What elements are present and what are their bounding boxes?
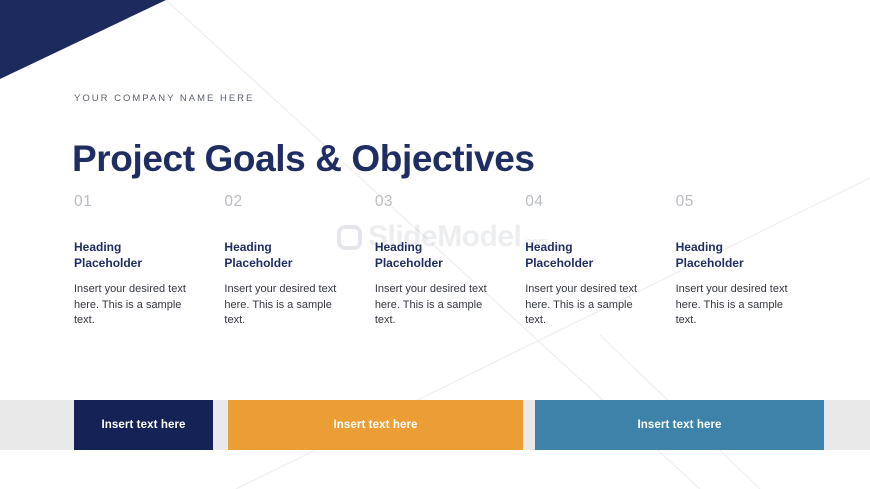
column-02: 02 Heading Placeholder Insert your desir… [224, 194, 362, 329]
column-body-text[interactable]: Insert your desired text here. This is a… [224, 282, 342, 330]
column-number: 03 [375, 194, 513, 210]
company-name-eyebrow: YOUR COMPANY NAME HERE [74, 93, 254, 104]
footer-box-steel-blue[interactable]: Insert text here [535, 400, 824, 450]
slide-canvas: SlideModel .com YOUR COMPANY NAME HERE P… [0, 0, 870, 489]
column-number: 02 [224, 194, 362, 210]
column-03: 03 Heading Placeholder Insert your desir… [375, 194, 513, 329]
footer-box-navy[interactable]: Insert text here [74, 400, 213, 450]
column-01: 01 Heading Placeholder Insert your desir… [74, 194, 212, 329]
corner-triangle-decoration [0, 0, 166, 79]
column-heading[interactable]: Heading Placeholder [676, 239, 786, 272]
column-body-text[interactable]: Insert your desired text here. This is a… [375, 282, 493, 330]
column-body-text[interactable]: Insert your desired text here. This is a… [676, 282, 794, 330]
column-heading[interactable]: Heading Placeholder [375, 239, 485, 272]
column-heading[interactable]: Heading Placeholder [525, 239, 635, 272]
footer-box-orange[interactable]: Insert text here [228, 400, 523, 450]
column-05: 05 Heading Placeholder Insert your desir… [676, 194, 814, 329]
column-number: 01 [74, 194, 212, 210]
column-body-text[interactable]: Insert your desired text here. This is a… [525, 282, 643, 330]
page-title: Project Goals & Objectives [72, 138, 535, 181]
column-number: 04 [525, 194, 663, 210]
column-heading[interactable]: Heading Placeholder [224, 239, 334, 272]
column-heading[interactable]: Heading Placeholder [74, 239, 184, 272]
column-number: 05 [676, 194, 814, 210]
column-04: 04 Heading Placeholder Insert your desir… [525, 194, 663, 329]
column-body-text[interactable]: Insert your desired text here. This is a… [74, 282, 192, 330]
columns-container: 01 Heading Placeholder Insert your desir… [74, 194, 814, 329]
